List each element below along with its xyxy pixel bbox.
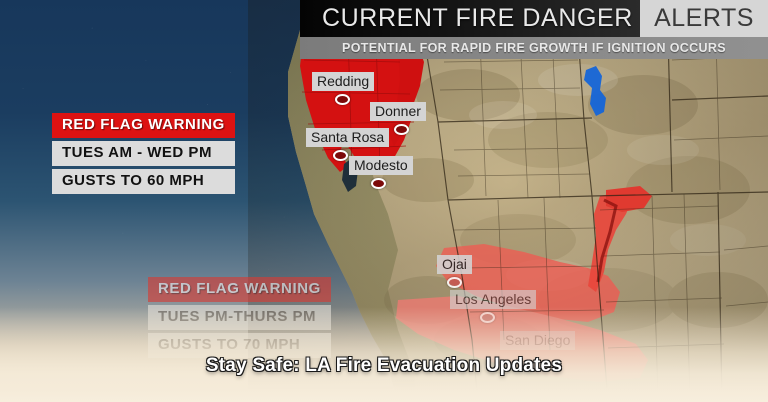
- warning-timing: TUES AM - WED PM: [62, 144, 212, 161]
- warning-gusts: GUSTS TO 60 MPH: [62, 172, 204, 189]
- header-bar: CURRENT FIRE DANGER ALERTS: [300, 0, 768, 37]
- city-label-donner: Donner: [370, 102, 426, 121]
- city-marker-santa-rosa[interactable]: Santa Rosa: [306, 128, 389, 147]
- city-dot-modesto: [371, 178, 386, 189]
- warning-timing-row: TUES AM - WED PM: [52, 141, 235, 166]
- city-marker-modesto[interactable]: Modesto: [349, 156, 413, 175]
- city-marker-redding[interactable]: Redding: [312, 72, 374, 91]
- caption-bar: Stay Safe: LA Fire Evacuation Updates: [0, 355, 768, 377]
- warning-headline: RED FLAG WARNING: [62, 116, 225, 133]
- city-label-redding: Redding: [312, 72, 374, 91]
- city-dot-santa-rosa: [333, 150, 348, 161]
- red-flag-warning-primary: RED FLAG WARNING TUES AM - WED PM GUSTS …: [52, 113, 235, 194]
- warning-gusts-row: GUSTS TO 60 MPH: [52, 169, 235, 194]
- city-dot-redding: [335, 94, 350, 105]
- city-label-santa-rosa: Santa Rosa: [306, 128, 389, 147]
- city-dot-donner: [394, 124, 409, 135]
- city-dot-ojai: [447, 277, 462, 288]
- header-subtitle-bar: POTENTIAL FOR RAPID FIRE GROWTH IF IGNIT…: [300, 37, 768, 59]
- warning-headline-row: RED FLAG WARNING: [148, 277, 331, 302]
- city-marker-donner[interactable]: Donner: [370, 102, 426, 121]
- warning-headline: RED FLAG WARNING: [158, 280, 321, 297]
- warning-headline-row: RED FLAG WARNING: [52, 113, 235, 138]
- city-marker-ojai[interactable]: Ojai: [437, 255, 472, 274]
- header-subtitle: POTENTIAL FOR RAPID FIRE GROWTH IF IGNIT…: [342, 41, 726, 55]
- caption-text: Stay Safe: LA Fire Evacuation Updates: [206, 355, 562, 376]
- tab-alerts[interactable]: ALERTS: [640, 0, 768, 37]
- city-label-ojai: Ojai: [437, 255, 472, 274]
- page-title: CURRENT FIRE DANGER: [322, 4, 633, 33]
- city-label-modesto: Modesto: [349, 156, 413, 175]
- header-title-panel: CURRENT FIRE DANGER: [300, 0, 640, 37]
- weather-map-graphic: CURRENT FIRE DANGER ALERTS POTENTIAL FOR…: [0, 0, 768, 402]
- tab-alerts-label: ALERTS: [654, 4, 754, 33]
